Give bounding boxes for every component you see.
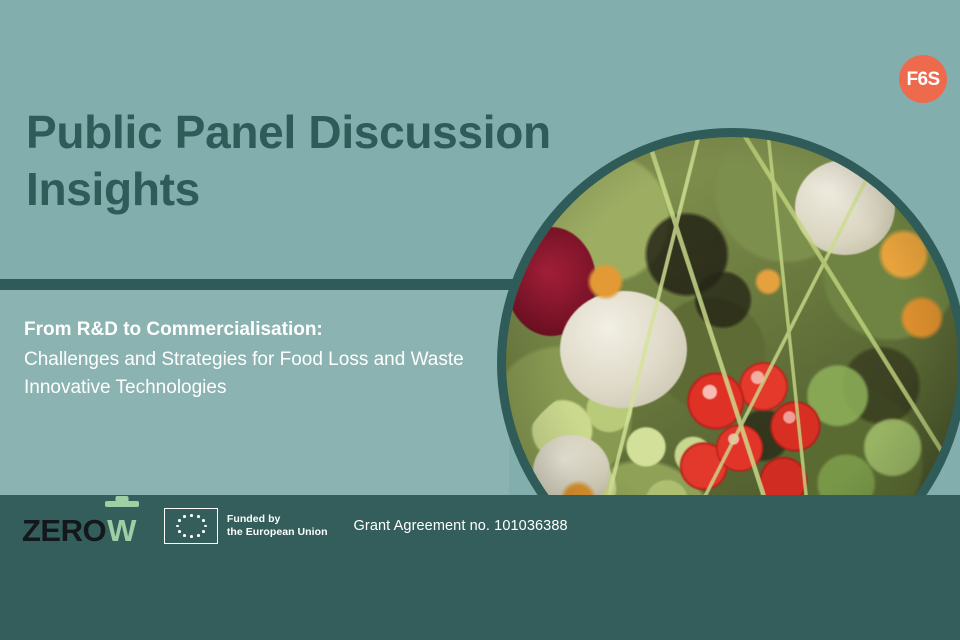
f6s-logo[interactable]: F6S (899, 55, 947, 103)
eu-flag-icon (164, 508, 218, 544)
subtitle-panel: From R&D to Commercialisation: Challenge… (0, 290, 509, 495)
page-title: Public Panel Discussion Insights (26, 104, 626, 217)
zerow-logo-text: ZERO (22, 515, 106, 546)
subtitle-body: Challenges and Strategies for Food Loss … (24, 346, 494, 401)
eu-funding-line-1: Funded by (227, 513, 328, 526)
subtitle-content: From R&D to Commercialisation: Challenge… (24, 317, 494, 401)
eu-funding-line-2: the European Union (227, 526, 328, 539)
subtitle-lead: From R&D to Commercialisation: (24, 317, 494, 344)
footer-logos-row: ZERO W (22, 505, 568, 547)
zerow-bin-icon: W (107, 515, 136, 546)
zerow-logo: ZERO W (22, 506, 136, 546)
section-divider (0, 279, 560, 290)
f6s-logo-text: F6S (906, 70, 939, 89)
eu-funding-logo: Funded by the European Union (164, 508, 328, 544)
zerow-logo-w: W (107, 515, 136, 546)
eu-funding-text: Funded by the European Union (227, 513, 328, 540)
grant-agreement-text: Grant Agreement no. 101036388 (354, 518, 568, 534)
presentation-slide: From R&D to Commercialisation: Challenge… (0, 0, 960, 640)
bin-lid-icon (105, 501, 139, 507)
